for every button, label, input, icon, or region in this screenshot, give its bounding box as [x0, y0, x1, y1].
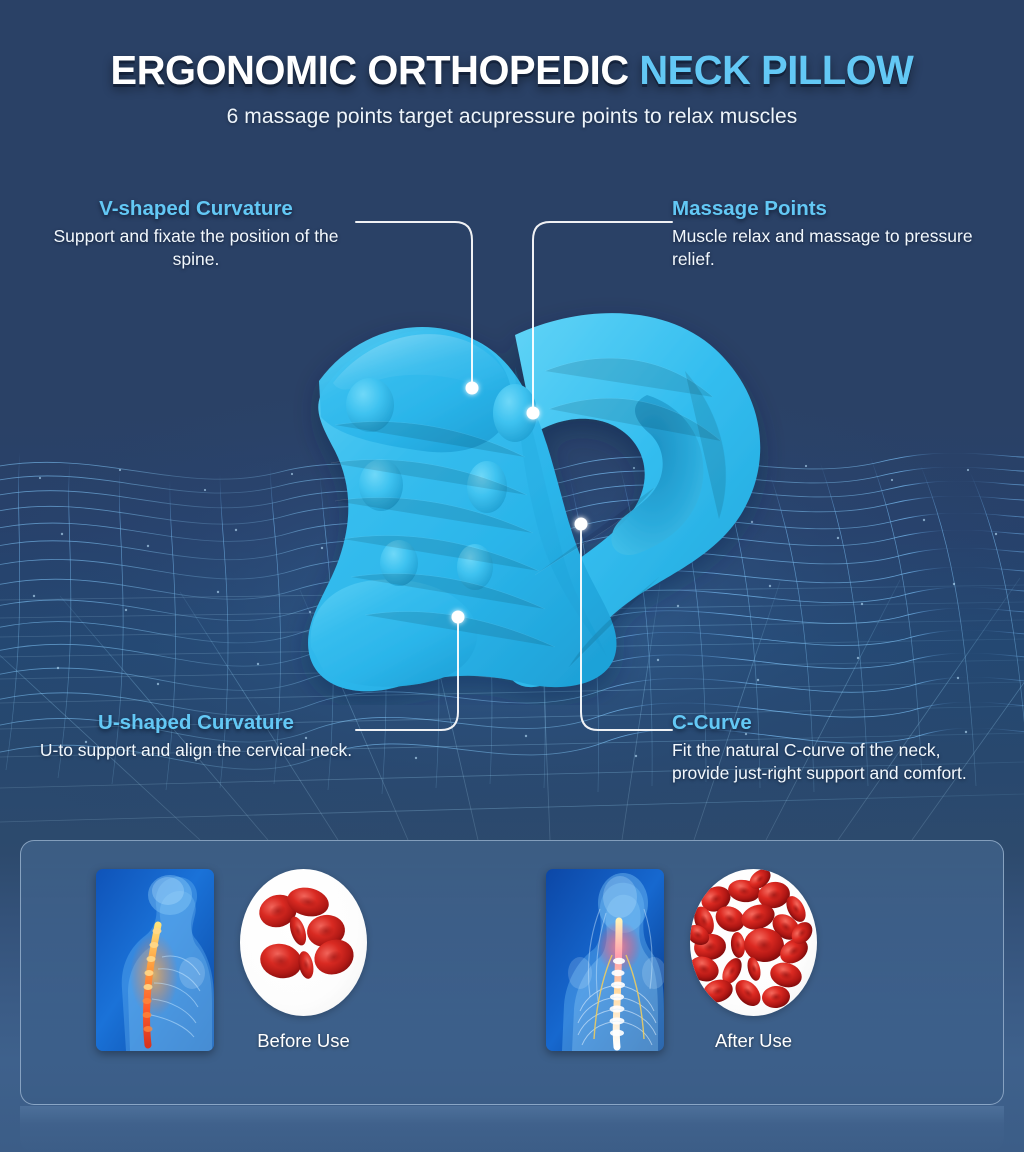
comparison-panel: Before Use	[20, 840, 1004, 1105]
leader-dot-v-shaped	[466, 382, 479, 395]
page-subtitle: 6 massage points target acupressure poin…	[0, 105, 1024, 129]
title-accent: NECK PILLOW	[639, 47, 913, 93]
leader-dot-u-shaped	[452, 611, 465, 624]
cell-column-after: After Use	[690, 869, 817, 1052]
callout-body: Support and fixate the position of the s…	[36, 225, 356, 272]
comparison-item-after: After Use	[546, 869, 817, 1052]
blood-cells-circle-before	[240, 869, 367, 1016]
panel-reflection	[20, 1106, 1004, 1152]
comparison-item-before: Before Use	[96, 869, 367, 1052]
callout-v-shaped-curvature: V-shaped Curvature Support and fixate th…	[36, 196, 356, 271]
callout-c-curve: C-Curve Fit the natural C-curve of the n…	[672, 710, 1002, 785]
callout-title: Massage Points	[672, 196, 992, 222]
anatomy-image-after	[546, 869, 664, 1051]
leader-dot-massage	[527, 407, 540, 420]
anatomy-image-before	[96, 869, 214, 1051]
page-title: ERGONOMIC ORTHOPEDIC NECK PILLOW	[15, 48, 1008, 92]
callout-u-shaped-curvature: U-shaped Curvature U-to support and alig…	[36, 710, 356, 762]
cell-column-before: Before Use	[240, 869, 367, 1052]
comparison-label-before: Before Use	[257, 1030, 350, 1052]
comparison-label-after: After Use	[715, 1030, 792, 1052]
callout-body: U-to support and align the cervical neck…	[36, 739, 356, 762]
callout-title: U-shaped Curvature	[36, 710, 356, 736]
callout-title: V-shaped Curvature	[36, 196, 356, 222]
leader-dot-c-curve	[575, 518, 588, 531]
callout-body: Fit the natural C-curve of the neck, pro…	[672, 739, 1002, 786]
callout-massage-points: Massage Points Muscle relax and massage …	[672, 196, 992, 271]
blood-cells-circle-after	[690, 869, 817, 1016]
callout-title: C-Curve	[672, 710, 1002, 736]
callout-body: Muscle relax and massage to pressure rel…	[672, 225, 992, 272]
header: ERGONOMIC ORTHOPEDIC NECK PILLOW 6 massa…	[0, 48, 1024, 129]
title-main: ERGONOMIC ORTHOPEDIC	[111, 47, 640, 93]
infographic-stage: ERGONOMIC ORTHOPEDIC NECK PILLOW 6 massa…	[0, 0, 1024, 1152]
